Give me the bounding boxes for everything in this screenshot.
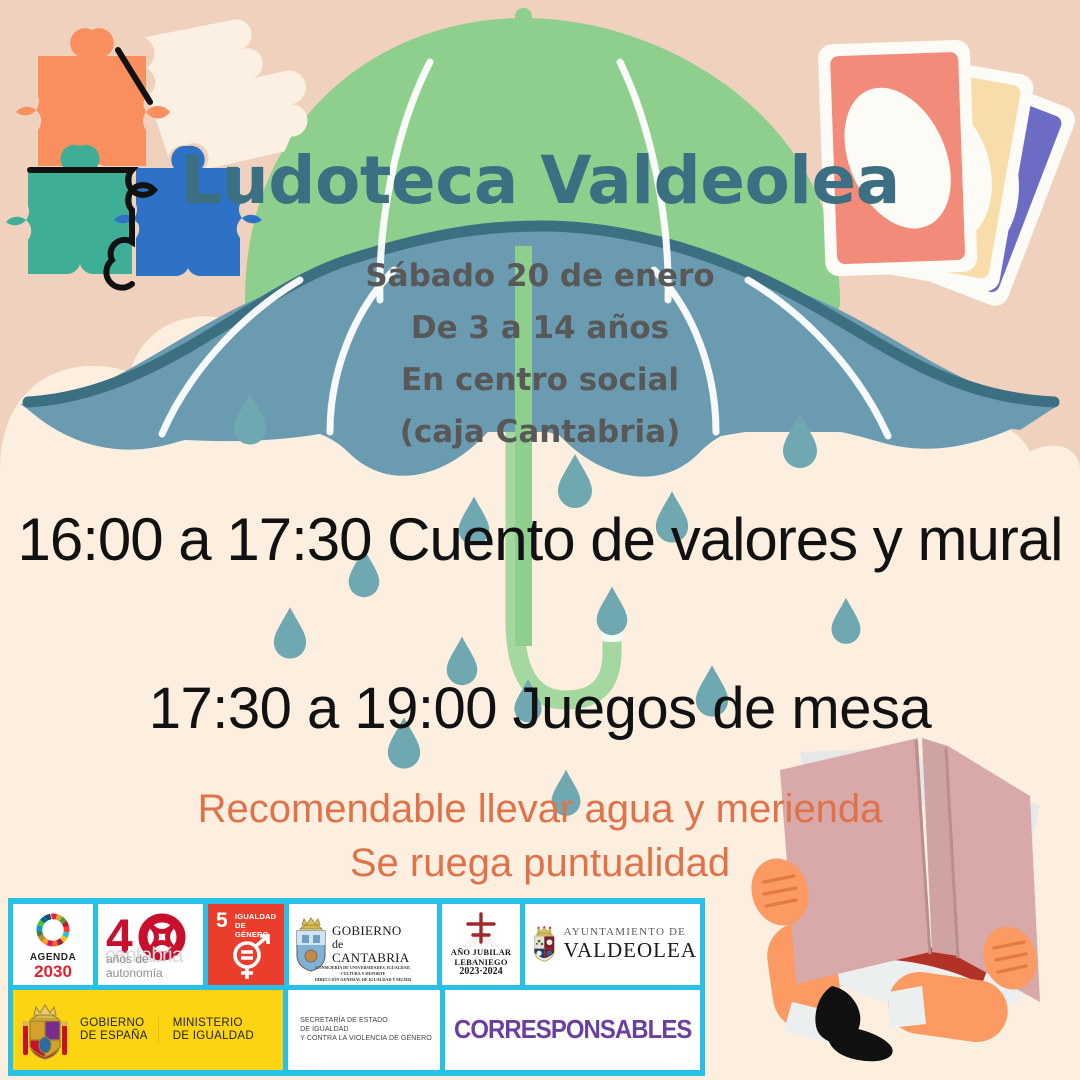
sdg-wheel-icon	[31, 908, 75, 952]
secretaria-line3: Y CONTRA LA VIOLENCIA DE GÉNERO	[300, 1034, 432, 1043]
jubilar-years: 2023·2024	[459, 967, 502, 977]
logo-row-2: GOBIERNO DE ESPAÑA MINISTERIO DE IGUALDA…	[13, 990, 700, 1071]
agenda-year: 2030	[34, 963, 72, 980]
detail-line-date: Sábado 20 de enero	[0, 250, 1080, 302]
detail-line-venue-detail: (caja Cantabria)	[0, 406, 1080, 458]
detail-line-venue: En centro social	[0, 354, 1080, 406]
note-line-2: Se ruega puntualidad	[0, 836, 1080, 890]
logo-row-1: AGENDA 2030 4 cantabria años de autonomí	[13, 904, 700, 985]
spain-coat-of-arms-icon	[21, 999, 69, 1061]
logo-secretaria-de-estado-de-igualdad: SECRETARÍA DE ESTADO DE IGUALDAD Y CONTR…	[288, 990, 440, 1071]
gender-equality-icon	[220, 933, 278, 981]
logo-gobierno-de-cantabria: GOBIERNO de CANTABRIA CONSEJERÍA DE UNIV…	[289, 904, 437, 985]
note-line-1: Recomendable llevar agua y merienda	[0, 782, 1080, 836]
logo-corresponsables: CORRESPONSABLES	[445, 990, 700, 1071]
corresponsables-label: CORRESPONSABLES	[454, 1014, 691, 1045]
schedule-item-1: 16:00 a 17:30 Cuento de valores y mural	[0, 505, 1080, 574]
valdeolea-coat-of-arms-icon	[531, 911, 558, 977]
poster-canvas: Ludoteca Valdeolea Sábado 20 de enero De…	[0, 0, 1080, 1080]
logo-agenda-2030: AGENDA 2030	[13, 904, 93, 985]
logo-ayuntamiento-de-valdeolea: AYUNTAMIENTO DE VALDEOLEA	[525, 904, 700, 985]
ministerio-line1: MINISTERIO	[173, 1017, 254, 1030]
ministerio-line2: DE IGUALDAD	[173, 1030, 254, 1043]
event-details: Sábado 20 de enero De 3 a 14 años En cen…	[0, 250, 1080, 458]
secretaria-line2: DE IGUALDAD	[300, 1025, 432, 1034]
detail-line-ages: De 3 a 14 años	[0, 302, 1080, 354]
gobierno-cantabria-line2: de	[332, 938, 410, 951]
ods-number: 5	[216, 910, 228, 931]
cantabria-caption: años de autonomía	[106, 952, 200, 980]
secretaria-line1: SECRETARÍA DE ESTADO	[300, 1016, 432, 1025]
lebaniego-cross-icon	[458, 911, 504, 947]
logo-ods-5-igualdad-de-genero: 5 IGUALDAD DE GÉNERO	[208, 904, 284, 985]
gobierno-espana-line2: DE ESPAÑA	[80, 1030, 148, 1043]
schedule-item-2: 17:30 a 19:00 Juegos de mesa	[0, 675, 1080, 742]
gobierno-cantabria-line1: GOBIERNO	[332, 924, 410, 938]
notes: Recomendable llevar agua y merienda Se r…	[0, 782, 1080, 890]
ods-label-line1: IGUALDAD	[235, 912, 281, 921]
consejeria-line3: DIRECCIÓN GENERAL DE IGUALDAD Y MUJER	[289, 977, 437, 983]
ayuntamiento-line2: VALDEOLEA	[564, 939, 697, 962]
jubilar-line1: AÑO JUBILAR	[451, 947, 512, 957]
page-title: Ludoteca Valdeolea	[0, 142, 1080, 219]
gobierno-cantabria-line3: CANTABRIA	[332, 951, 410, 965]
sponsor-logo-band: AGENDA 2030 4 cantabria años de autonomí	[8, 898, 705, 1076]
logo-ano-jubilar-lebaniego: AÑO JUBILAR LEBANIEGO 2023·2024	[442, 904, 520, 985]
logo-cantabria-40-anos: 4 cantabria años de autonomía	[98, 904, 203, 985]
gobierno-espana-line1: GOBIERNO	[80, 1017, 148, 1030]
logo-gobierno-de-espana: GOBIERNO DE ESPAÑA MINISTERIO DE IGUALDA…	[13, 990, 283, 1071]
